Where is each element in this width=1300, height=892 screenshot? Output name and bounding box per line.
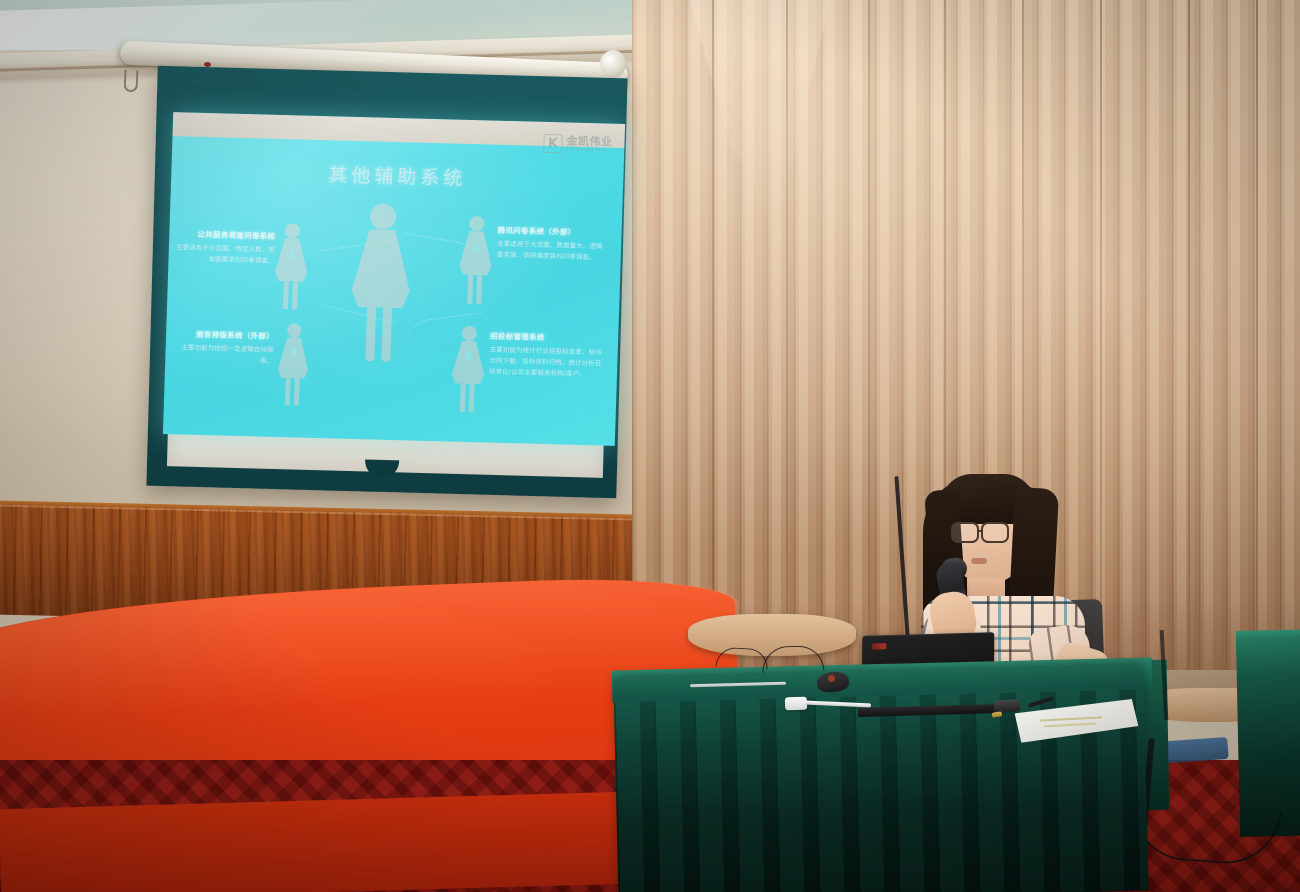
slide-block-1-heading: 公共服务调查问卷系统 <box>175 228 275 242</box>
slide-title: 其他辅助系统 <box>171 156 624 195</box>
presentation-photo-scene: K 金凯伟业 JINKAIWEIYE 其他辅助系统 1 <box>0 0 1300 892</box>
person-head <box>462 326 477 341</box>
presenter-mouth <box>971 558 987 564</box>
curtain-fold <box>1256 0 1258 670</box>
curtain-fold <box>1188 0 1190 670</box>
person-leg <box>476 275 482 304</box>
slide-block-4: 招投标管理系统 主要功能为统计行业招投标信息、标书合同下载、投标资料归档，统计分… <box>489 331 606 381</box>
slide-block-1-body: 主要适用于小范围、特定人群、有加密需求的问卷调查。 <box>174 242 275 267</box>
slide-block-2-heading: 腾讯问卷系统（外部） <box>497 225 609 239</box>
logo-name-cn: 金凯伟业 <box>566 135 612 147</box>
person-icon-1: 1 <box>273 223 310 310</box>
glasses-left-lens <box>951 522 979 543</box>
person-head <box>370 203 397 230</box>
slide-block-3: 报告排版系统（外部） 主要功能为按照一定逻辑自动排版。 <box>175 328 274 367</box>
person-body <box>351 229 411 308</box>
second-table-drape <box>1236 635 1300 837</box>
slide-block-2: 腾讯问卷系统（外部） 主要适用于大范围、数据量大、逻辑要求高、调研难度高的问卷调… <box>497 225 610 264</box>
person-leg <box>292 281 298 309</box>
company-logo: K 金凯伟业 JINKAIWEIYE <box>543 134 613 155</box>
person-leg <box>294 378 300 405</box>
mouse-logo-icon <box>828 675 835 682</box>
curtain-fold <box>712 0 714 670</box>
person-leg <box>283 281 289 309</box>
display-adapter <box>785 697 807 711</box>
person-leg <box>469 384 475 412</box>
person-number-4: 4 <box>464 349 473 363</box>
person-head <box>469 216 484 231</box>
slide-block-2-body: 主要适用于大范围、数据量大、逻辑要求高、调研难度高的问卷调查。 <box>497 239 610 264</box>
roller-hook <box>124 70 139 93</box>
person-leg <box>381 308 392 362</box>
curtain-fold <box>786 0 788 670</box>
person-leg <box>285 378 291 405</box>
person-head <box>285 223 300 238</box>
screen-pull-tab <box>365 459 399 478</box>
person-head <box>287 323 301 337</box>
stage-carpet-front <box>0 791 661 892</box>
curtain-fold <box>1100 0 1102 670</box>
person-icon-4: 4 <box>450 326 487 413</box>
logo-name-en: JINKAIWEIYE <box>566 148 612 154</box>
central-person-icon <box>347 203 414 365</box>
person-number-1: 1 <box>287 247 296 261</box>
logo-mark-icon: K <box>543 134 563 153</box>
glasses-right-lens <box>981 522 1009 543</box>
person-icon-2: 2 <box>457 216 494 305</box>
glasses-bridge <box>978 530 983 532</box>
slide-block-4-heading: 招投标管理系统 <box>490 331 606 345</box>
person-number-3: 3 <box>290 345 298 358</box>
person-leg <box>365 307 376 361</box>
person-leg <box>460 384 466 412</box>
person-icon-3: 3 <box>276 323 311 406</box>
laptop-logo-icon <box>872 643 886 649</box>
projected-slide: K 金凯伟业 JINKAIWEIYE 其他辅助系统 1 <box>163 112 625 446</box>
curtain-hem-pool <box>688 614 856 656</box>
slide-block-1: 公共服务调查问卷系统 主要适用于小范围、特定人群、有加密需求的问卷调查。 <box>174 228 275 267</box>
person-number-2: 2 <box>472 240 481 254</box>
slide-block-4-body: 主要功能为统计行业招投标信息、标书合同下载、投标资料归档，统计分析目标单位/公司… <box>489 345 606 381</box>
person-leg <box>467 275 473 304</box>
slide-block-3-heading: 报告排版系统（外部） <box>176 328 274 342</box>
curtain-fold <box>868 0 870 670</box>
logo-wordmark: 金凯伟业 JINKAIWEIYE <box>566 135 613 153</box>
slide-block-3-body: 主要功能为按照一定逻辑自动排版。 <box>175 342 274 367</box>
